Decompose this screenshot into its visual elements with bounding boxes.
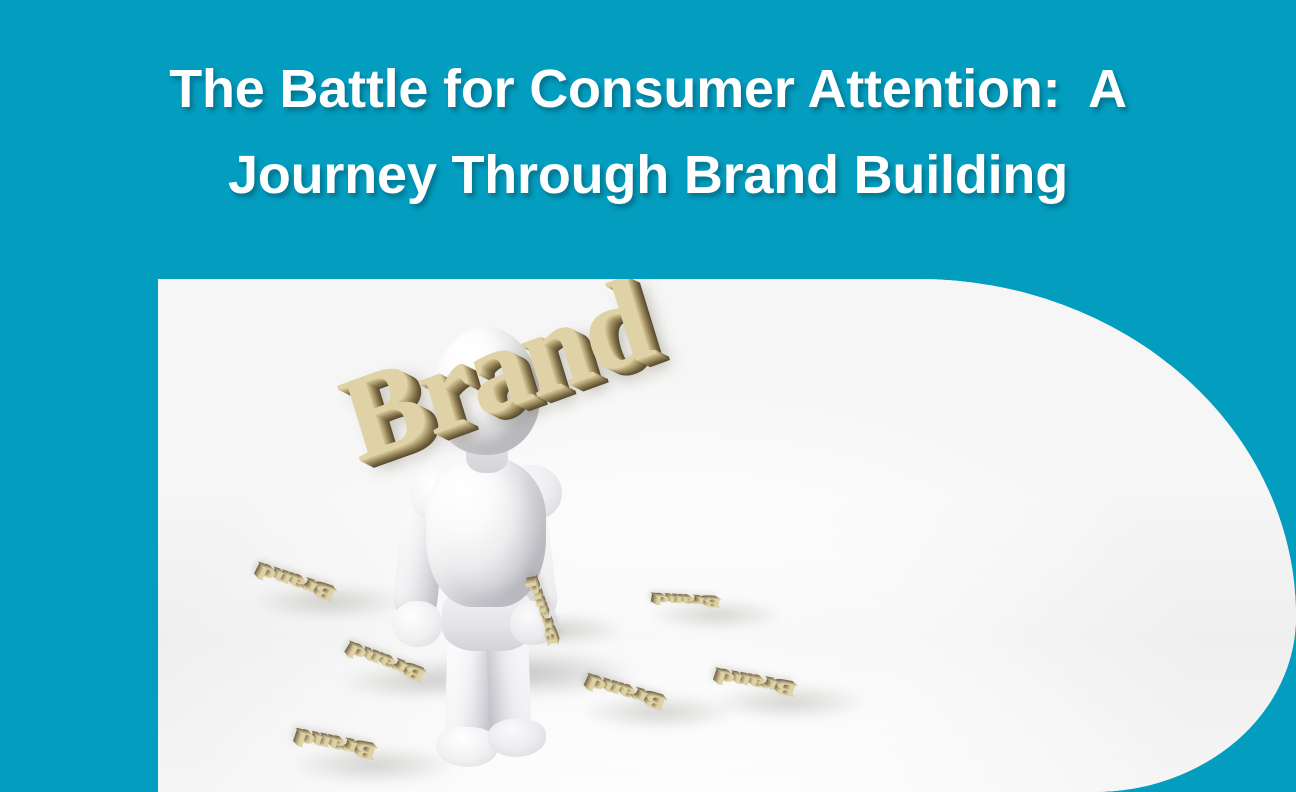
page-title: The Battle for Consumer Attention: A Jou… [0, 46, 1296, 218]
figure-right-foot [488, 719, 546, 757]
slide-canvas: The Battle for Consumer Attention: A Jou… [0, 0, 1296, 792]
gold-word-brand: Brand [655, 593, 723, 609]
title-line-1: The Battle for Consumer Attention: A [0, 46, 1296, 132]
image-card: Brand Brand Brand Brand Brand Brand Bran… [158, 279, 1296, 792]
figure-left-hand [392, 601, 442, 647]
brand-illustration: Brand Brand Brand Brand Brand Brand Bran… [158, 279, 1296, 792]
title-line-2: Journey Through Brand Building [0, 132, 1296, 218]
